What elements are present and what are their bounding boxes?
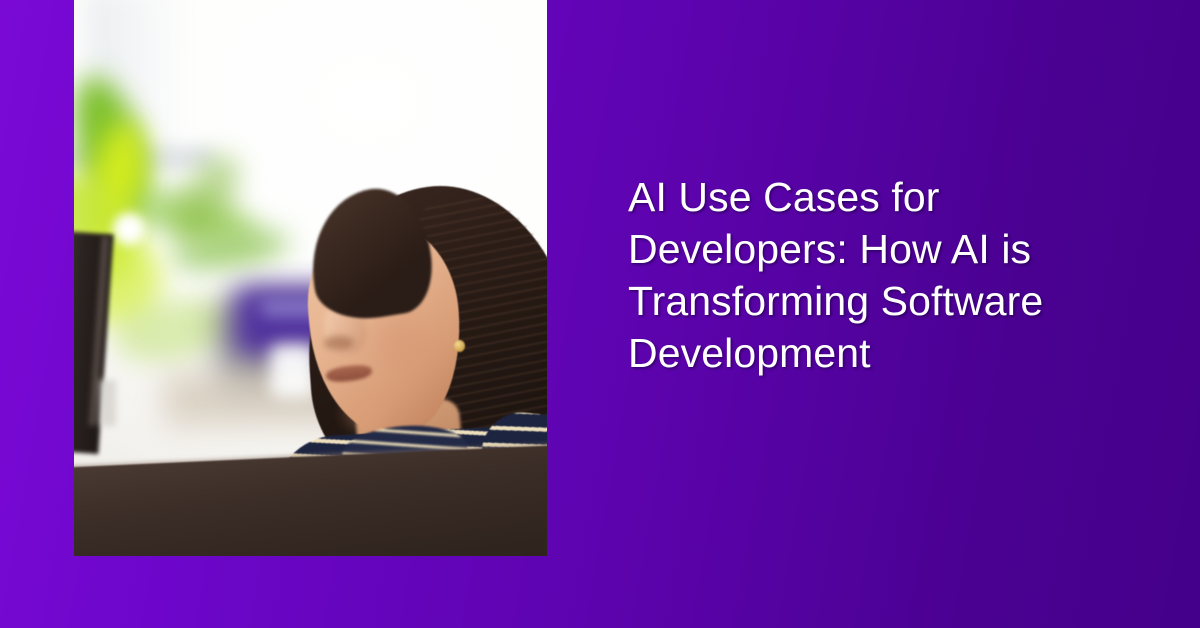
chin-shading <box>332 392 398 432</box>
hero-photo-canvas <box>74 0 547 556</box>
headline-block: AI Use Cases for Developers: How AI is T… <box>628 171 1048 379</box>
earring <box>454 340 465 352</box>
page-title: AI Use Cases for Developers: How AI is T… <box>628 171 1048 379</box>
social-share-card: AI Use Cases for Developers: How AI is T… <box>0 0 1200 628</box>
nose-shadow <box>324 336 354 350</box>
hero-photo <box>74 0 547 556</box>
